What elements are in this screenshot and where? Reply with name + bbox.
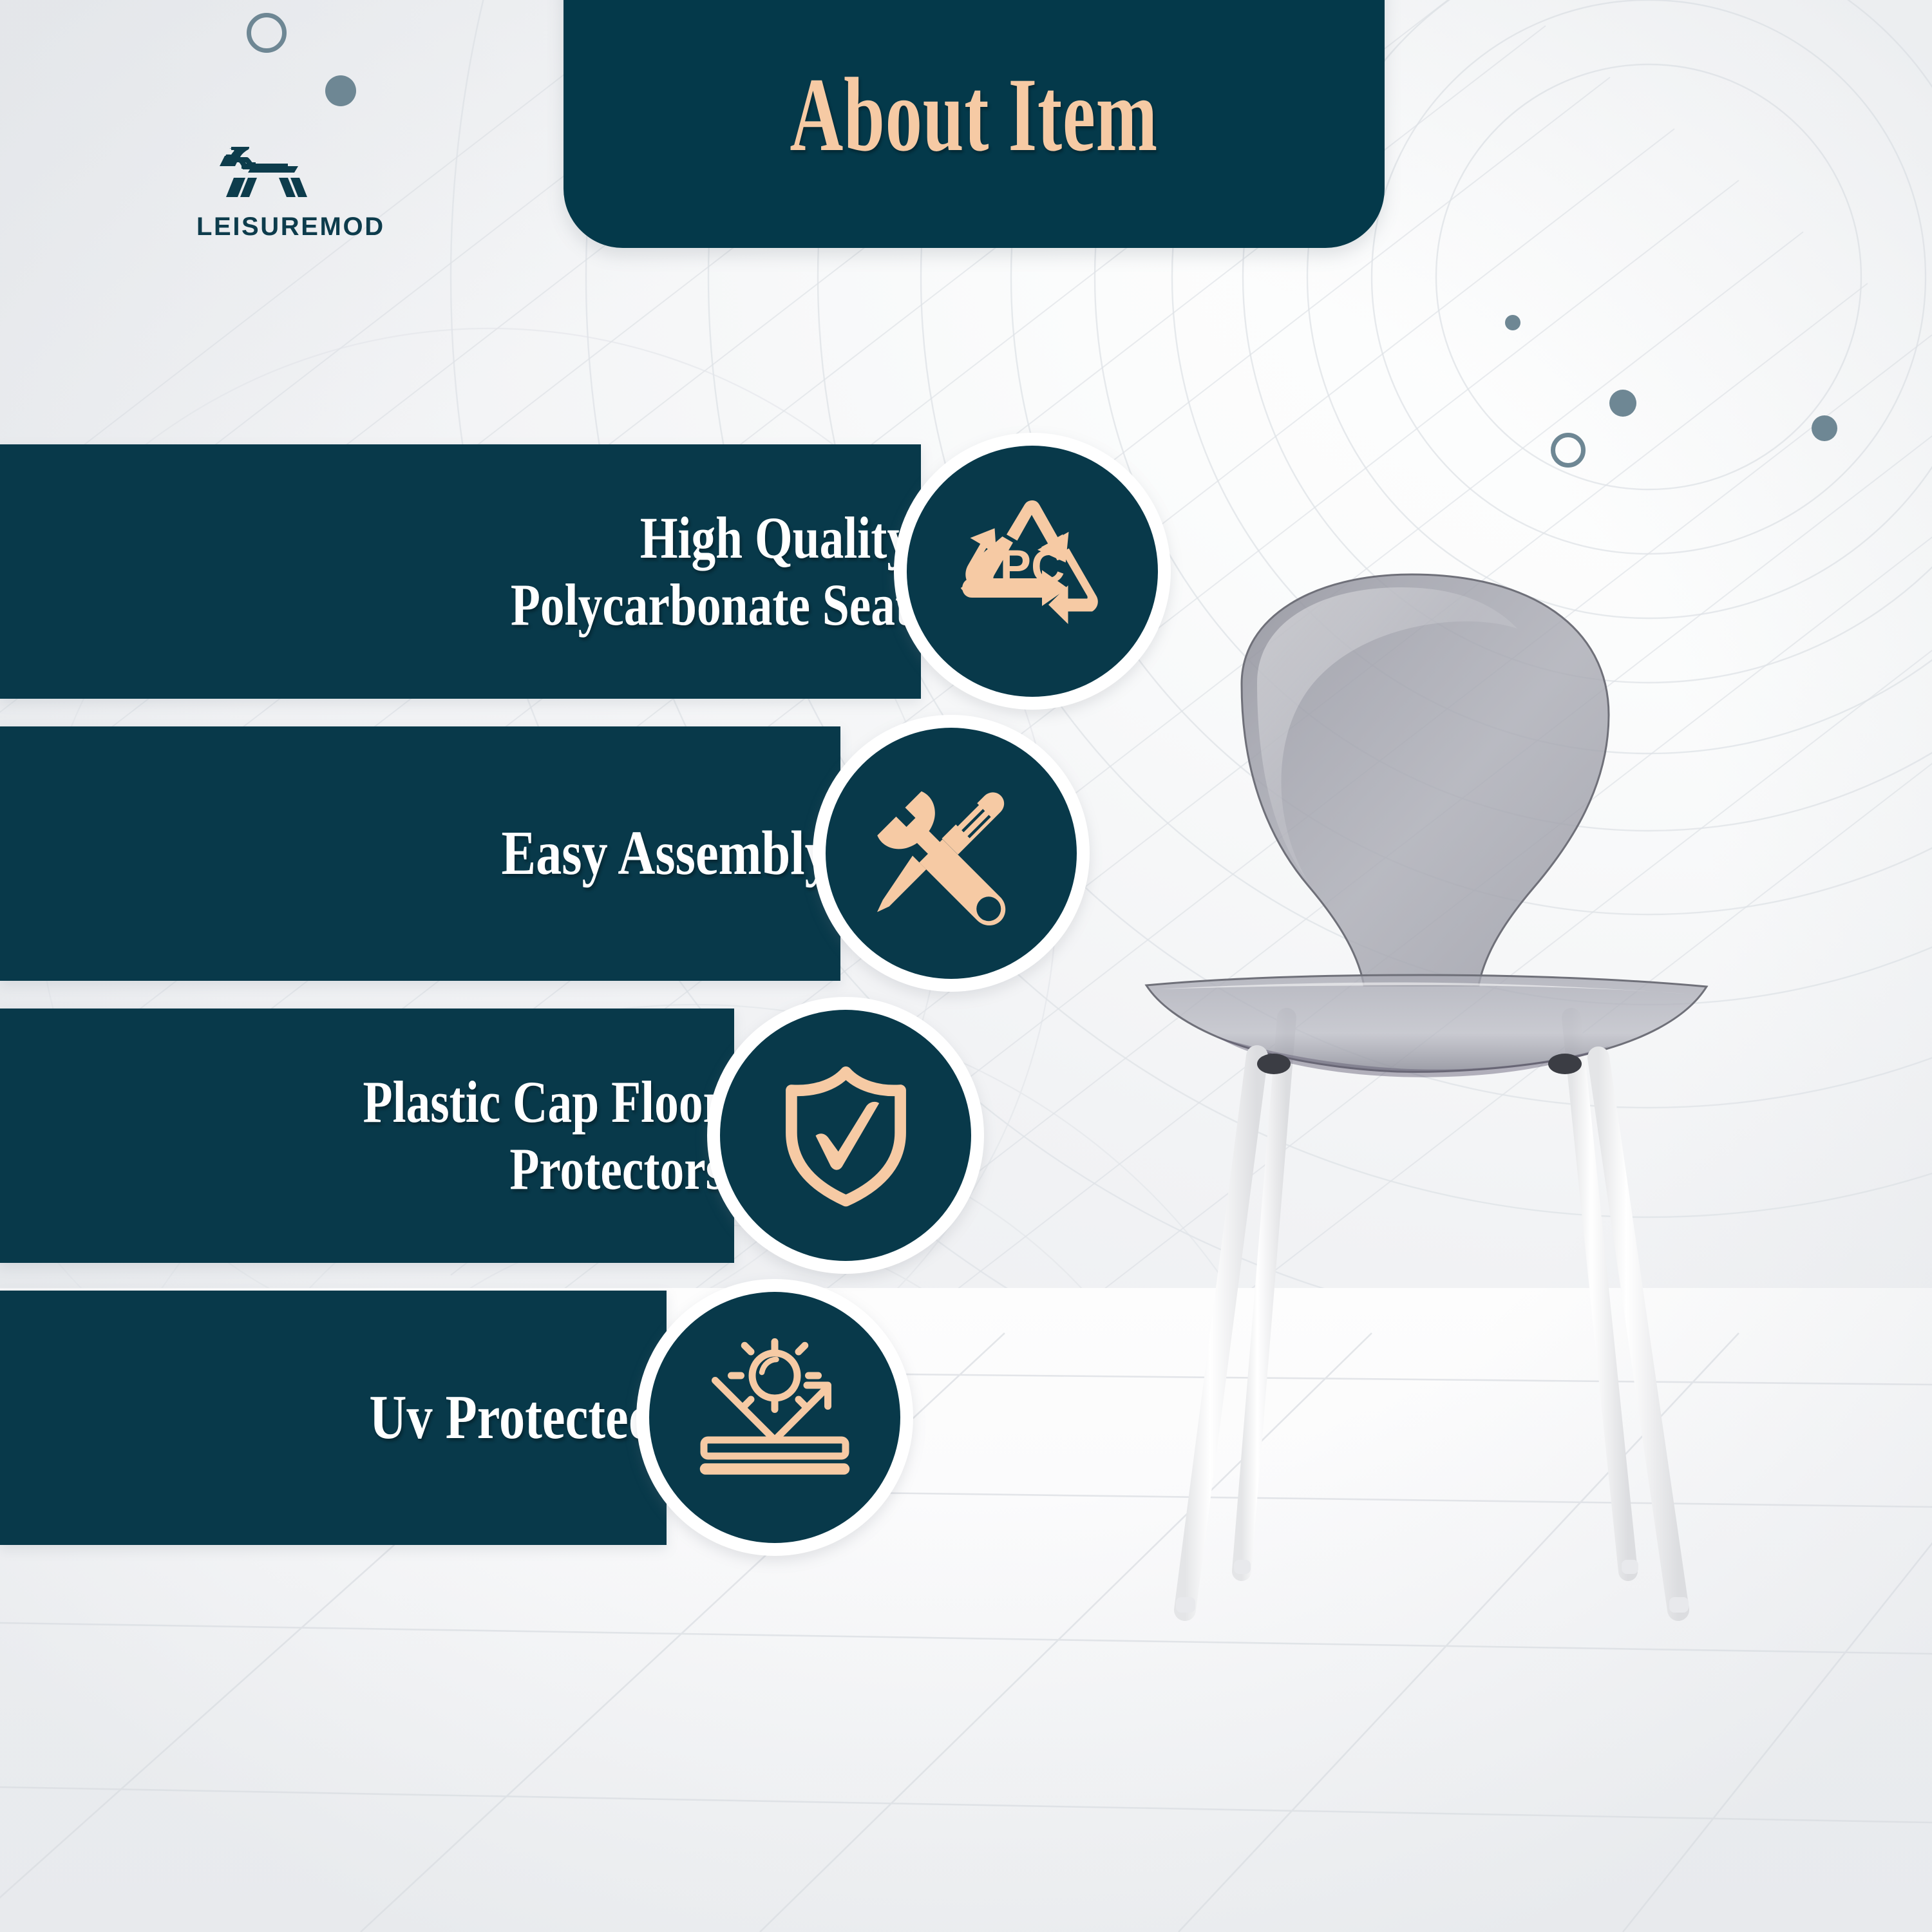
infographic-canvas: LEISUREMOD About Item High Quality Polyc… <box>0 0 1932 1932</box>
floor-protector-cap-right <box>1548 1054 1582 1074</box>
chair-seat <box>1146 975 1707 1072</box>
product-chair-image <box>1121 567 1771 1777</box>
feature-label-3: Plastic Cap Floor Protectors <box>363 1069 734 1202</box>
leg-tip-back-right <box>1622 1560 1638 1574</box>
uv-shield-sun-icon <box>694 1337 855 1498</box>
ring-dot-top-left <box>247 13 287 53</box>
brand-name: LEISUREMOD <box>196 213 383 241</box>
header-banner: About Item <box>563 0 1385 248</box>
feature-label-2: Easy Assembly <box>502 819 840 889</box>
leg-tip-front-right <box>1669 1597 1689 1613</box>
feature-row-2: Easy Assembly <box>0 726 1127 981</box>
feature-badge-ring-4 <box>636 1279 913 1556</box>
feature-bar-4: Uv Protected <box>0 1291 667 1545</box>
filled-dot-far-right <box>1812 415 1837 441</box>
feature-label-4: Uv Protected <box>369 1383 667 1454</box>
leg-tip-front-left <box>1176 1597 1195 1613</box>
wrench-screwdriver-icon <box>871 773 1032 934</box>
recycling-pc-icon: PC <box>952 491 1113 652</box>
feature-badge-3 <box>720 1010 971 1261</box>
lounge-chair-logo-icon <box>216 147 319 204</box>
brand-logo: LEISUREMOD <box>196 147 383 241</box>
filled-dot-small-right <box>1505 315 1520 330</box>
feature-row-1: High Quality Polycarbonate Seat <box>0 444 1191 699</box>
feature-bar-1: High Quality Polycarbonate Seat <box>0 444 921 699</box>
filled-dot-top-left <box>325 75 356 106</box>
chair-legs <box>1242 1018 1628 1571</box>
feature-badge-ring-3 <box>707 997 984 1274</box>
feature-badge-4 <box>649 1292 900 1543</box>
recycling-code-label: PC <box>1000 541 1065 593</box>
feature-bar-3: Plastic Cap Floor Protectors <box>0 1009 734 1263</box>
feature-row-3: Plastic Cap Floor Protectors <box>0 1009 1030 1263</box>
shield-check-icon <box>770 1060 922 1211</box>
feature-row-4: Uv Protected <box>0 1291 934 1545</box>
feature-badge-ring-2 <box>813 715 1090 992</box>
page-title: About Item <box>790 55 1158 176</box>
feature-badge-2 <box>826 728 1077 979</box>
leg-tip-back-left <box>1234 1560 1251 1574</box>
ring-dot-right <box>1551 433 1586 468</box>
floor-protector-cap-left <box>1257 1054 1291 1074</box>
feature-label-1: High Quality Polycarbonate Seat <box>511 505 921 638</box>
feature-bar-2: Easy Assembly <box>0 726 840 981</box>
filled-dot-mid-right <box>1609 390 1636 417</box>
